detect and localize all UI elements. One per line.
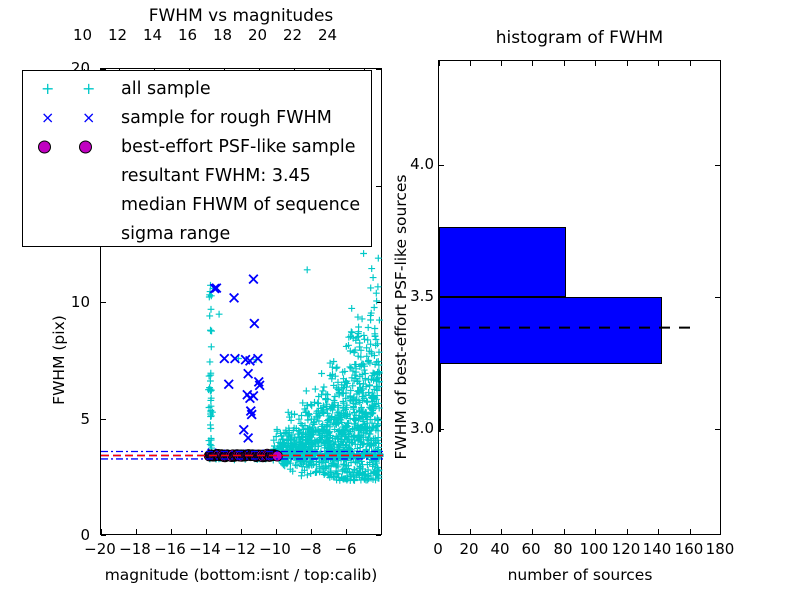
hist-x-tick-label-180: 180 (704, 540, 736, 558)
legend-label-rough-fwhm: sample for rough FWHM (121, 108, 332, 128)
dashed-line-red-icon (29, 190, 115, 219)
legend-label-all-sample: all sample (121, 79, 211, 99)
bottom-tick-label-7: −6 (330, 540, 361, 558)
figure-canvas: FWHM vs magnitudes 10 12 14 16 18 20 22 … (0, 0, 800, 600)
left-panel-title: FWHM vs magnitudes (100, 6, 382, 26)
legend-label-sigma-range: sigma range (121, 224, 230, 244)
legend-entry-rough-fwhm: × × sample for rough FWHM (29, 103, 371, 132)
top-tick-label-5: 20 (240, 26, 275, 44)
right-panel-ylabel: FWHM of best-effort PSF-like sources (392, 142, 410, 492)
legend-entry-sigma-range: sigma range (29, 219, 371, 248)
dashdot-line-icon (29, 219, 115, 248)
hist-x-tick-label-140: 140 (641, 540, 673, 558)
bottom-tick-label-2: −16 (152, 540, 188, 558)
legend-entry-psf-like: best-effort PSF-like sample (29, 132, 371, 161)
hist-x-tick-label-20: 20 (457, 540, 481, 558)
hist-y-tick-label-4: 4.0 (402, 155, 434, 173)
bottom-tick-label-4: −12 (222, 540, 258, 558)
legend-entry-resultant-fwhm: resultant FWHM: 3.45 (29, 161, 371, 190)
top-tick-label-3: 16 (170, 26, 205, 44)
bottom-tick-label-6: −8 (295, 540, 326, 558)
top-tick-label-1: 12 (100, 26, 135, 44)
hist-x-tick-label-100: 100 (578, 540, 610, 558)
bottom-tick-label-3: −14 (187, 540, 223, 558)
hist-x-tick-label-60: 60 (519, 540, 543, 558)
top-tick-label-0: 10 (65, 26, 100, 44)
bottom-tick-label-0: −20 (82, 540, 118, 558)
top-tick-label-7: 24 (310, 26, 345, 44)
top-tick-label-6: 22 (275, 26, 310, 44)
histogram-bar[interactable] (439, 297, 662, 364)
histogram-bars (439, 61, 722, 536)
hist-y-tick-label-3p5: 3.5 (402, 287, 434, 305)
hist-x-tick-label-0: 0 (426, 540, 450, 558)
plus-icon: + + (29, 74, 115, 103)
cross-icon: × × (29, 103, 115, 132)
hist-y-tick-label-3: 3.0 (402, 419, 434, 437)
histogram-bar[interactable] (439, 227, 566, 298)
legend-label-resultant-fwhm: resultant FWHM: 3.45 (121, 166, 311, 186)
legend-entry-all-sample: + + all sample (29, 74, 371, 103)
right-panel-axes (438, 60, 721, 535)
top-tick-label-4: 18 (205, 26, 240, 44)
hist-x-tick-label-80: 80 (551, 540, 575, 558)
left-panel-ylabel: FWHM (pix) (50, 265, 68, 455)
hist-x-tick-label-120: 120 (610, 540, 642, 558)
dashed-line-icon (29, 161, 115, 190)
legend-entry-median-fwhm: median FHWM of sequence (29, 190, 371, 219)
top-tick-label-2: 14 (135, 26, 170, 44)
hist-x-tick-label-40: 40 (488, 540, 512, 558)
histogram-bar[interactable] (439, 364, 441, 431)
series-rough-fwhm (208, 275, 271, 459)
legend-label-psf-like: best-effort PSF-like sample (121, 137, 356, 157)
filled-circle-icon (29, 132, 115, 161)
hist-x-tick-label-160: 160 (673, 540, 705, 558)
bottom-tick-label-1: −18 (117, 540, 153, 558)
legend-box: + + all sample × × sample for rough FWHM… (22, 70, 372, 247)
right-panel-xlabel: number of sources (450, 566, 710, 584)
bottom-tick-label-5: −10 (257, 540, 293, 558)
legend-label-median-fwhm: median FHWM of sequence (121, 195, 360, 215)
left-panel-xlabel: magnitude (bottom:isnt / top:calib) (60, 566, 422, 584)
right-panel-title: histogram of FWHM (438, 28, 721, 48)
